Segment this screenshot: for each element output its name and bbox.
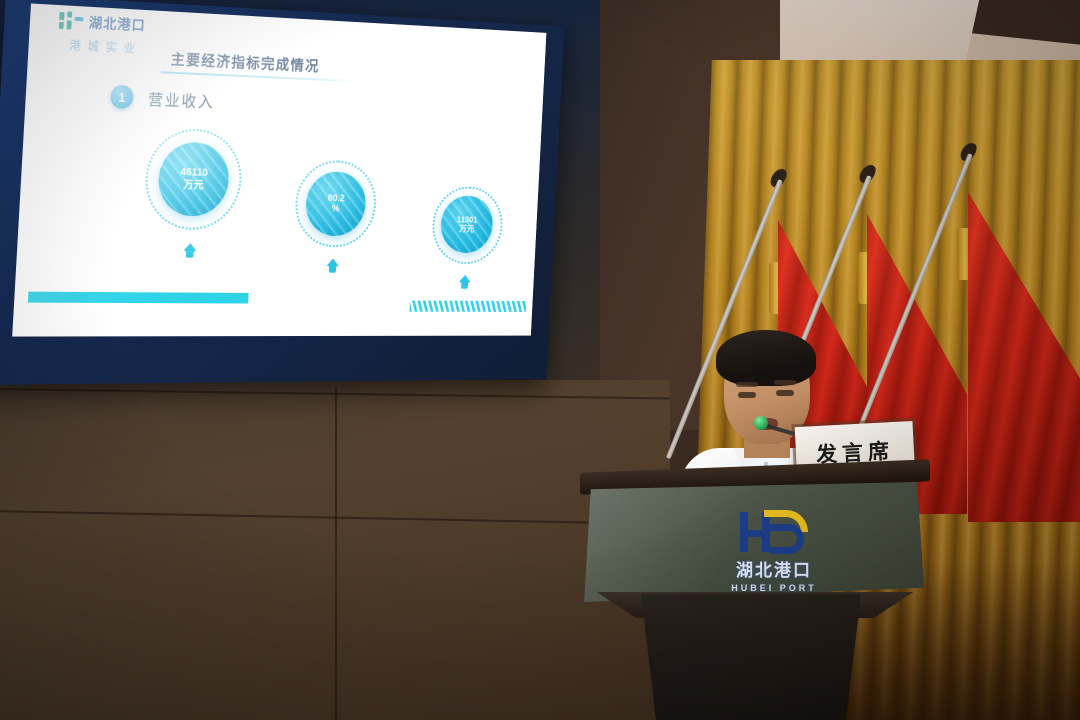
- podium-base: [626, 594, 876, 720]
- metric-value: 46110: [180, 167, 208, 180]
- speaker-podium: 湖北港口 HUBEI PORT: [570, 466, 940, 720]
- projection-screen: 湖北港口 港城实业 主要经济指标完成情况 1 营业收入: [0, 0, 564, 385]
- podium-logo-cn: 湖北港口: [704, 556, 844, 581]
- metric-unit: %: [332, 204, 340, 215]
- slide-accent-bar: [28, 292, 249, 304]
- microphone-icon: [754, 416, 768, 430]
- podium-logo: 湖北港口 HUBEI PORT: [704, 510, 844, 593]
- slide-section-header: 1 营业收入: [110, 85, 215, 113]
- presentation-slide: 湖北港口 港城实业 主要经济指标完成情况 1 营业收入: [12, 3, 546, 336]
- metric-group: 46110 万元 80.2 %: [14, 123, 541, 314]
- metric-value: 11301: [457, 215, 478, 225]
- podium-front-panel: 湖北港口 HUBEI PORT: [584, 482, 924, 602]
- slide-brand-logo: 湖北港口 港城实业: [57, 11, 146, 57]
- slide-logo-text: 湖北港口: [88, 13, 146, 36]
- metric-unit: 万元: [459, 224, 474, 234]
- screen-surface: 湖北港口 港城实业 主要经济指标完成情况 1 营业收入: [12, 3, 546, 336]
- section-number-badge: 1: [110, 85, 134, 109]
- hb-monogram-icon: [704, 510, 844, 554]
- metric-unit: 万元: [183, 179, 204, 192]
- podium-logo-en: HUBEI PORT: [704, 583, 844, 593]
- speaker-hair: [716, 330, 816, 386]
- slide-logo-subtitle: 港城实业: [69, 36, 145, 56]
- hubei-port-mark-icon: [59, 11, 85, 32]
- conference-hall-scene: 湖北港口 港城实业 主要经济指标完成情况 1 营业收入: [0, 0, 1080, 720]
- metric-value: 80.2: [327, 193, 345, 204]
- slide-hatch-decoration: [409, 300, 526, 311]
- eyebrow: [774, 380, 796, 385]
- section-label: 营业收入: [148, 86, 216, 112]
- eye: [738, 392, 756, 398]
- eye: [776, 390, 794, 396]
- slide-title: 主要经济指标完成情况: [170, 48, 320, 75]
- panel-seam: [335, 388, 337, 720]
- eyebrow: [736, 382, 758, 387]
